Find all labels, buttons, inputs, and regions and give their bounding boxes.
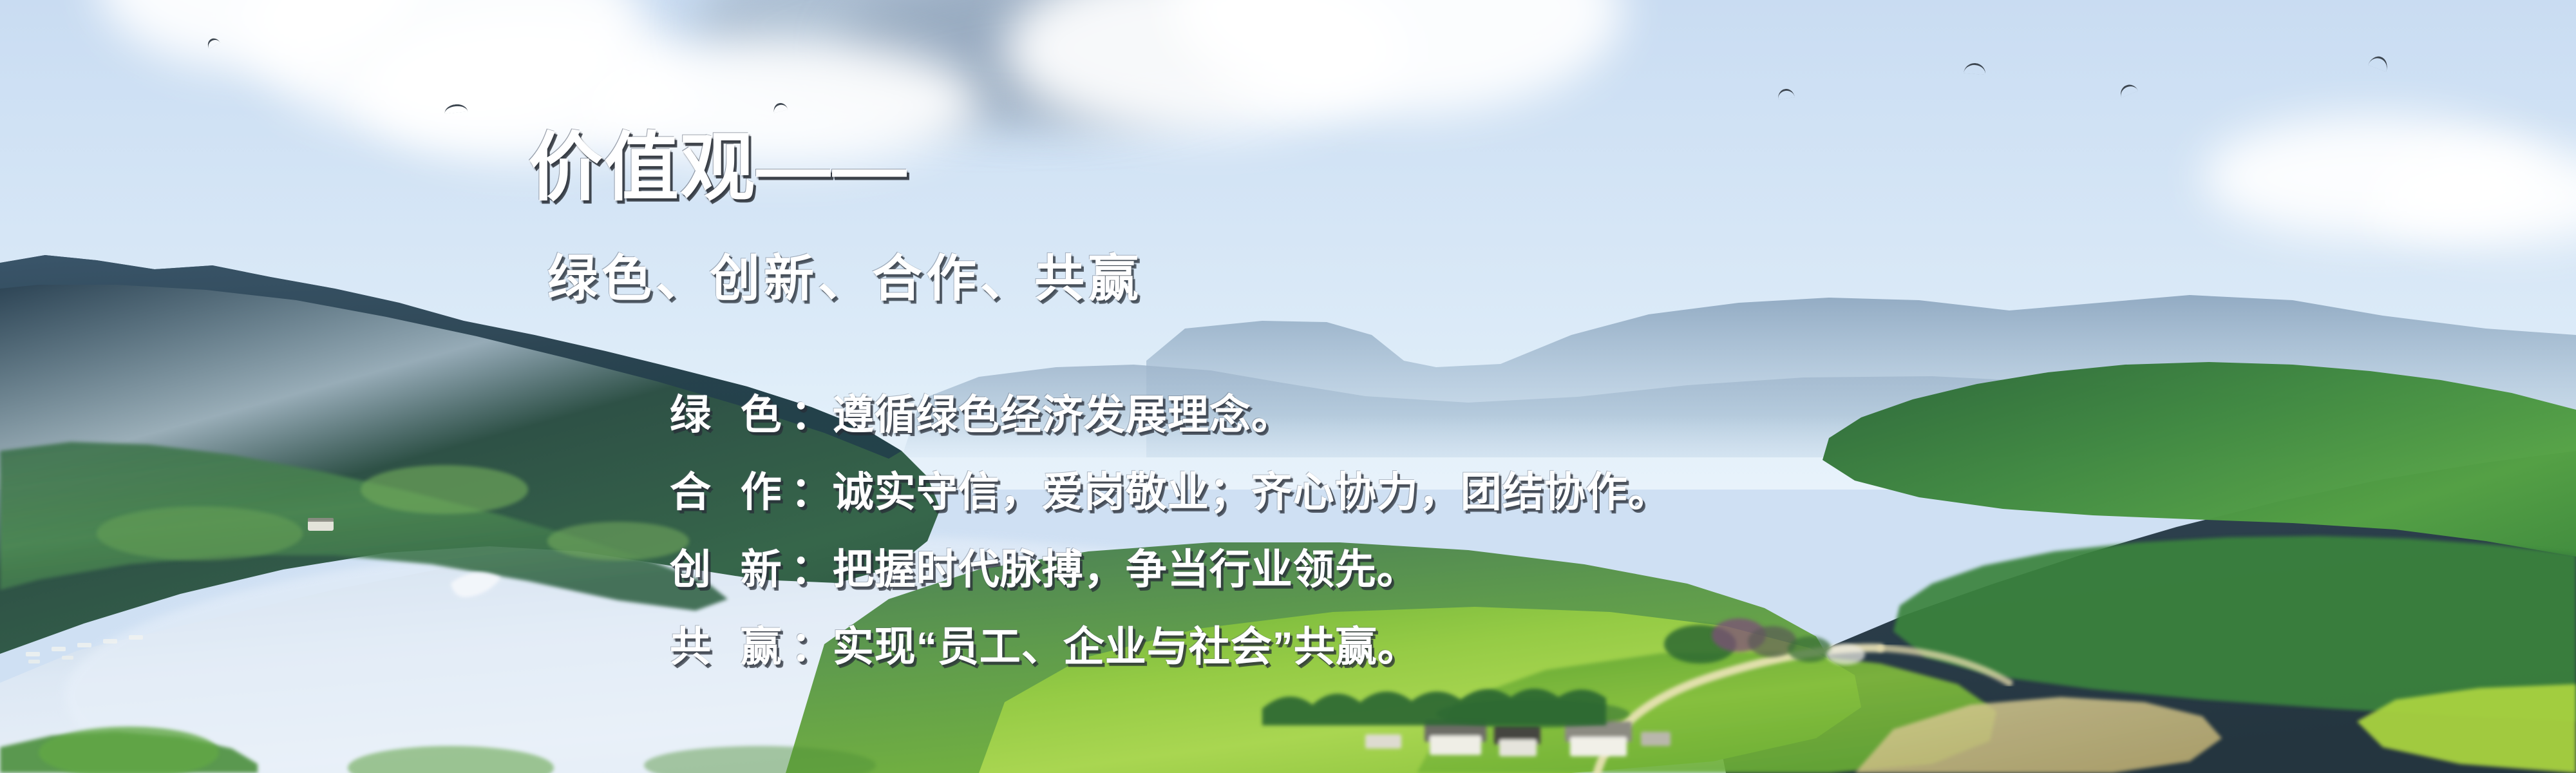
- value-separator-green: ：: [791, 392, 833, 438]
- value-label-winwin: 共 赢: [670, 624, 791, 670]
- value-text-green: 遵循绿色经济发展理念。: [833, 392, 1293, 438]
- value-label-cooperation: 合 作: [670, 469, 791, 515]
- values-text-block: 价值观—— 绿色、创新、合作、共赢 绿 色：遵循绿色经济发展理念。 合 作：诚实…: [0, 0, 2576, 773]
- value-label-innovation: 创 新: [670, 546, 791, 593]
- value-item-green: 绿 色：遵循绿色经济发展理念。: [670, 376, 1670, 453]
- value-text-winwin: 实现“员工、企业与社会”共赢。: [833, 624, 1419, 670]
- values-banner: 价值观—— 绿色、创新、合作、共赢 绿 色：遵循绿色经济发展理念。 合 作：诚实…: [0, 0, 2576, 773]
- values-list: 绿 色：遵循绿色经济发展理念。 合 作：诚实守信，爱岗敬业；齐心协力，团结协作。…: [670, 376, 1670, 685]
- value-label-green: 绿 色: [670, 392, 791, 438]
- value-separator-cooperation: ：: [791, 469, 833, 515]
- values-subtitle: 绿色、创新、合作、共赢: [547, 250, 1142, 308]
- value-text-cooperation: 诚实守信，爱岗敬业；齐心协力，团结协作。: [833, 469, 1670, 515]
- value-text-innovation: 把握时代脉搏，争当行业领先。: [833, 546, 1419, 593]
- page-title: 价值观——: [528, 126, 908, 210]
- value-item-winwin: 共 赢：实现“员工、企业与社会”共赢。: [670, 608, 1670, 685]
- value-item-cooperation: 合 作：诚实守信，爱岗敬业；齐心协力，团结协作。: [670, 453, 1670, 531]
- value-separator-innovation: ：: [791, 546, 833, 593]
- value-item-innovation: 创 新：把握时代脉搏，争当行业领先。: [670, 531, 1670, 608]
- value-separator-winwin: ：: [791, 624, 833, 670]
